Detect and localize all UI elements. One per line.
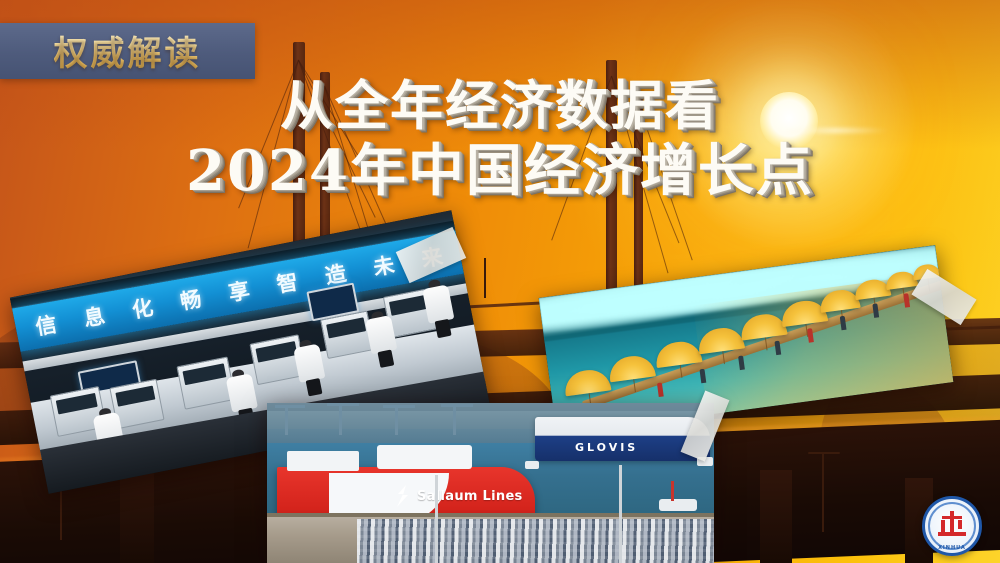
ship-glovis-name: GLOVIS: [575, 441, 638, 454]
machine-screen: [115, 386, 155, 407]
bridge-cable: [551, 76, 612, 241]
bridge-cable: [324, 86, 375, 249]
bridge-cable: [638, 104, 693, 260]
led-word: 畅: [178, 282, 210, 316]
street-lamp-arm: [808, 452, 840, 454]
bridge-cable: [248, 60, 299, 249]
bridge-cable: [611, 76, 679, 243]
led-word: 智: [274, 265, 306, 299]
worker-legs: [305, 378, 322, 397]
light-pole: [619, 465, 622, 563]
xinhua-logo-caption: XINHUA: [925, 545, 979, 551]
ship-superstructure: [287, 451, 359, 471]
sallaum-logo-icon: [395, 484, 411, 508]
machine-screen: [255, 341, 297, 363]
machine-screen: [182, 363, 226, 385]
port-crane-boom: [383, 405, 415, 408]
street-lamp-icon: [822, 452, 824, 532]
xinhua-logo[interactable]: XINHUA: [922, 496, 982, 556]
tugboat: [525, 461, 539, 469]
port-crane: [453, 404, 456, 435]
worker-legs: [434, 319, 452, 338]
quay-edge: [267, 513, 714, 517]
bridge-pier: [760, 470, 792, 563]
category-badge: 权威解读: [0, 23, 255, 79]
bridge-cable: [238, 60, 299, 209]
led-word: 享: [226, 273, 258, 307]
led-word: 化: [129, 290, 161, 324]
machine-screen: [326, 317, 366, 338]
light-pole: [435, 475, 438, 563]
port-crane-boom: [441, 404, 473, 407]
ship-glovis: GLOVIS: [535, 417, 710, 461]
news-banner-graphic: 权威解读 从全年经济数据看 2024年中国经济增长点 信 息 化 畅 享 智 造…: [0, 0, 1000, 563]
exported-cars-rows: [357, 519, 714, 563]
bridge-cable: [298, 60, 376, 218]
bridge-pier: [120, 470, 154, 563]
led-word: 息: [81, 299, 113, 333]
ship-sallaum-name: Sallaum Lines: [417, 489, 523, 504]
category-badge-label: 权威解读: [54, 26, 202, 77]
worker-legs: [377, 349, 394, 368]
led-word: 信: [33, 307, 65, 341]
xinhua-emblem-icon: [937, 511, 967, 541]
port-crane-boom: [275, 405, 305, 408]
port-crane: [395, 405, 398, 435]
ship-bridge-deck: [377, 445, 472, 469]
port-crane-boom: [327, 403, 359, 406]
photo-card-port[interactable]: GLOVIS Sallaum Lines: [267, 403, 714, 563]
street-lamp-icon: [484, 258, 486, 298]
small-vessel: [659, 499, 697, 511]
port-crane: [339, 403, 342, 435]
vessel-mast: [671, 481, 674, 501]
port-crane: [285, 405, 288, 435]
